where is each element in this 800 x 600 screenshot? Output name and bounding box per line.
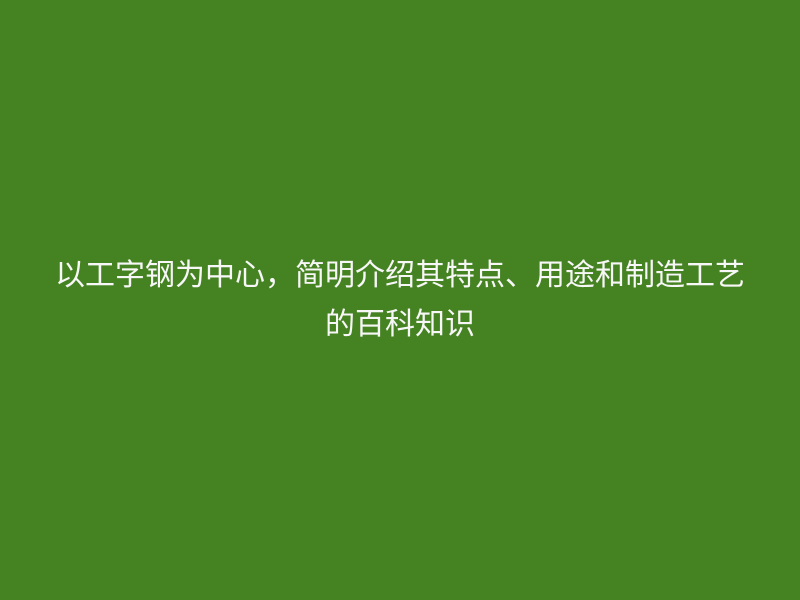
headline-block: 以工字钢为中心，简明介绍其特点、用途和制造工艺的百科知识 (50, 251, 750, 349)
banner-canvas: 以工字钢为中心，简明介绍其特点、用途和制造工艺的百科知识 (0, 0, 800, 600)
banner-headline: 以工字钢为中心，简明介绍其特点、用途和制造工艺的百科知识 (50, 251, 750, 349)
